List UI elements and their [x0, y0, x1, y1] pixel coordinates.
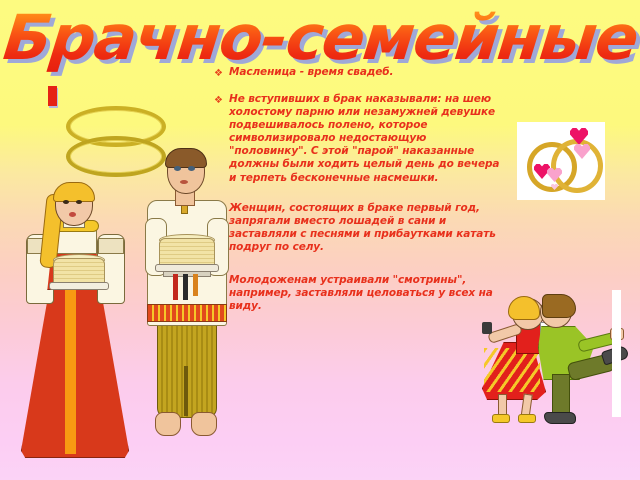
russian-woman-in-red-sarafan-illustration: [13, 186, 135, 468]
embroidered-hem: [147, 304, 227, 322]
plate: [155, 264, 219, 272]
list-item-text: Не вступивших в брак наказывали: на шею …: [229, 93, 502, 185]
woman-shoe-right: [518, 414, 536, 423]
bare-foot-right: [191, 412, 217, 436]
belt-tassel-orange: [193, 274, 198, 296]
page-title-text: Брачно-семейные обряды: [0, 2, 640, 76]
man-standing-shoe: [544, 412, 576, 424]
trouser-leg-gap: [184, 366, 188, 416]
list-item: ❖ Женщин, состоящих в браке первый год, …: [214, 202, 502, 254]
list-item-text: Молодоженам устраивали "смотрины", напри…: [229, 274, 502, 313]
eye-left: [174, 166, 181, 171]
diamond-bullet-icon: ❖: [214, 66, 229, 80]
mouth: [69, 212, 76, 217]
red-rectangle-fragment: [48, 86, 57, 106]
sleeve-cuff-right: [98, 238, 124, 254]
woman-blonde-hair: [508, 296, 540, 320]
list-item: ❖ Масленица - время свадеб.: [214, 66, 502, 80]
list-item-text: Женщин, состоящих в браке первый год, за…: [229, 202, 502, 254]
russian-man-in-rubakha-illustration: [133, 152, 237, 464]
mouth: [180, 180, 188, 184]
plate: [49, 282, 109, 290]
eye-left: [63, 200, 69, 204]
list-item: ❖ Не вступивших в брак наказывали: на ше…: [214, 93, 502, 185]
hair: [165, 148, 207, 168]
woman-shoe-left: [492, 414, 510, 423]
diamond-bullet-icon: ❖: [214, 93, 229, 107]
belt-tassel-dark: [183, 274, 188, 300]
bullet-list: ❖ Масленица - время свадеб. ❖ Не вступив…: [214, 66, 502, 326]
slide-canvas: Брачно-семейные обряды Брачно-семейные о…: [0, 0, 640, 480]
hair-top: [53, 182, 95, 202]
woman-dress-trim: [484, 348, 540, 392]
eye-right: [188, 166, 195, 171]
list-item: ❖ Молодоженам устраивали "смотрины", нап…: [214, 274, 502, 313]
sarafan-front-stripe: [65, 282, 76, 454]
belt-tassel-red: [173, 274, 178, 300]
gold-rings-with-pink-hearts-image: [517, 122, 605, 200]
list-item-text: Масленица - время свадеб.: [229, 66, 502, 79]
man-hair: [542, 294, 576, 318]
eye-right: [76, 200, 82, 204]
woman-hand: [482, 322, 492, 334]
bare-foot-left: [155, 412, 181, 436]
white-vertical-strip: [612, 290, 621, 417]
